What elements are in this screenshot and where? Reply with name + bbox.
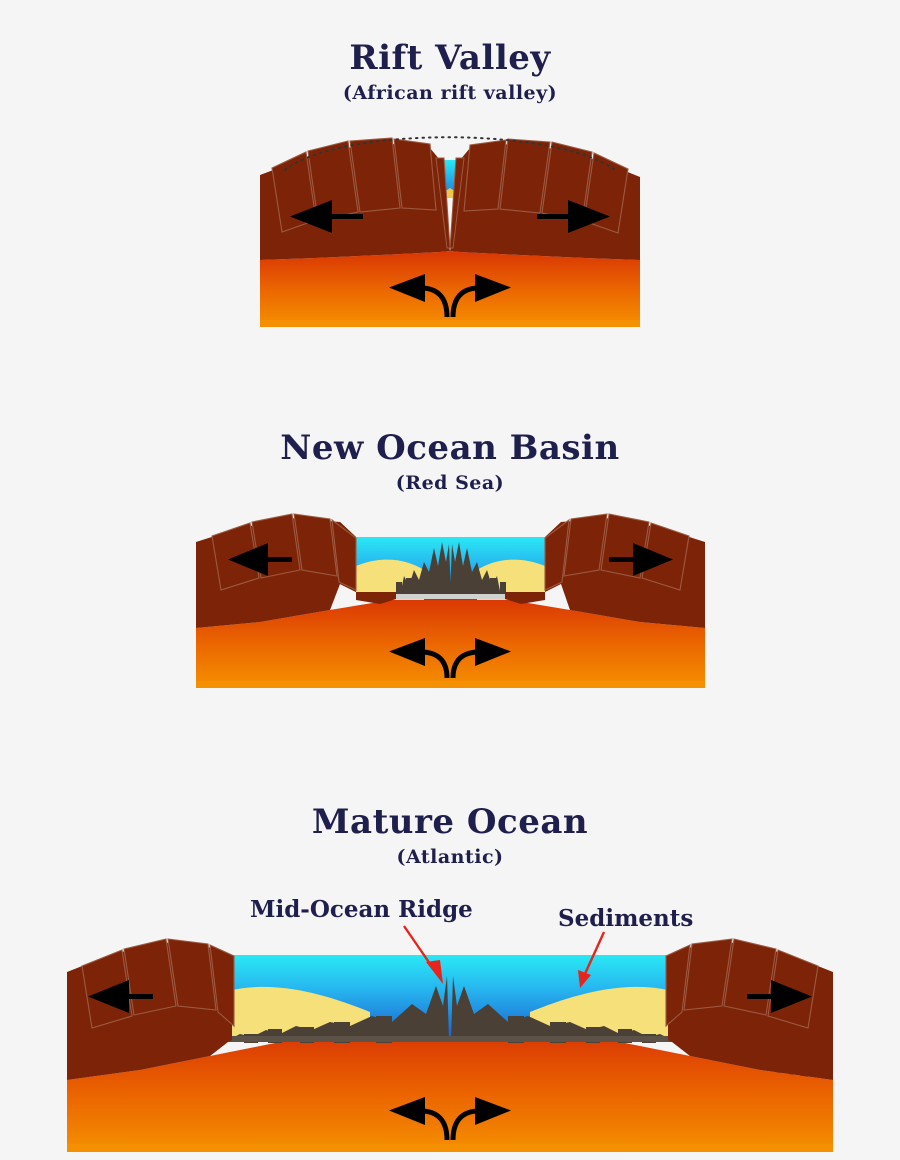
mature-cross-section — [0, 930, 900, 1160]
rift-cross-section — [0, 120, 900, 380]
rift-title-block: Rift Valley (African rift valley) — [0, 38, 900, 106]
rift-mantle — [260, 251, 640, 327]
stage-new-ocean-basin: New Ocean Basin (Red Sea) — [0, 400, 900, 760]
rift-title: Rift Valley — [0, 38, 900, 78]
basin-title: New Ocean Basin — [0, 428, 900, 468]
stage-mature-ocean: Mature Ocean (Atlantic) Mid-Ocean Ridge … — [0, 760, 900, 1152]
stage-rift-valley: Rift Valley (African rift valley) — [0, 0, 900, 400]
mature-title: Mature Ocean — [0, 802, 900, 842]
basin-mantle-base — [196, 681, 705, 688]
basin-basalt-base — [396, 594, 505, 599]
mature-title-block: Mature Ocean (Atlantic) — [0, 802, 900, 870]
basin-title-block: New Ocean Basin (Red Sea) — [0, 428, 900, 496]
callout-sediments: Sediments — [558, 905, 693, 932]
mature-mantle-base — [67, 1144, 833, 1152]
basin-cross-section — [0, 500, 900, 700]
basin-subtitle: (Red Sea) — [0, 470, 900, 496]
rift-mantle-base — [260, 320, 640, 327]
mature-basalt-base — [228, 1036, 672, 1042]
diagram-canvas: Rift Valley (African rift valley) — [0, 0, 900, 1152]
mature-subtitle: (Atlantic) — [0, 844, 900, 870]
rift-subtitle: (African rift valley) — [0, 80, 900, 106]
callout-mid-ocean-ridge: Mid-Ocean Ridge — [250, 896, 473, 923]
